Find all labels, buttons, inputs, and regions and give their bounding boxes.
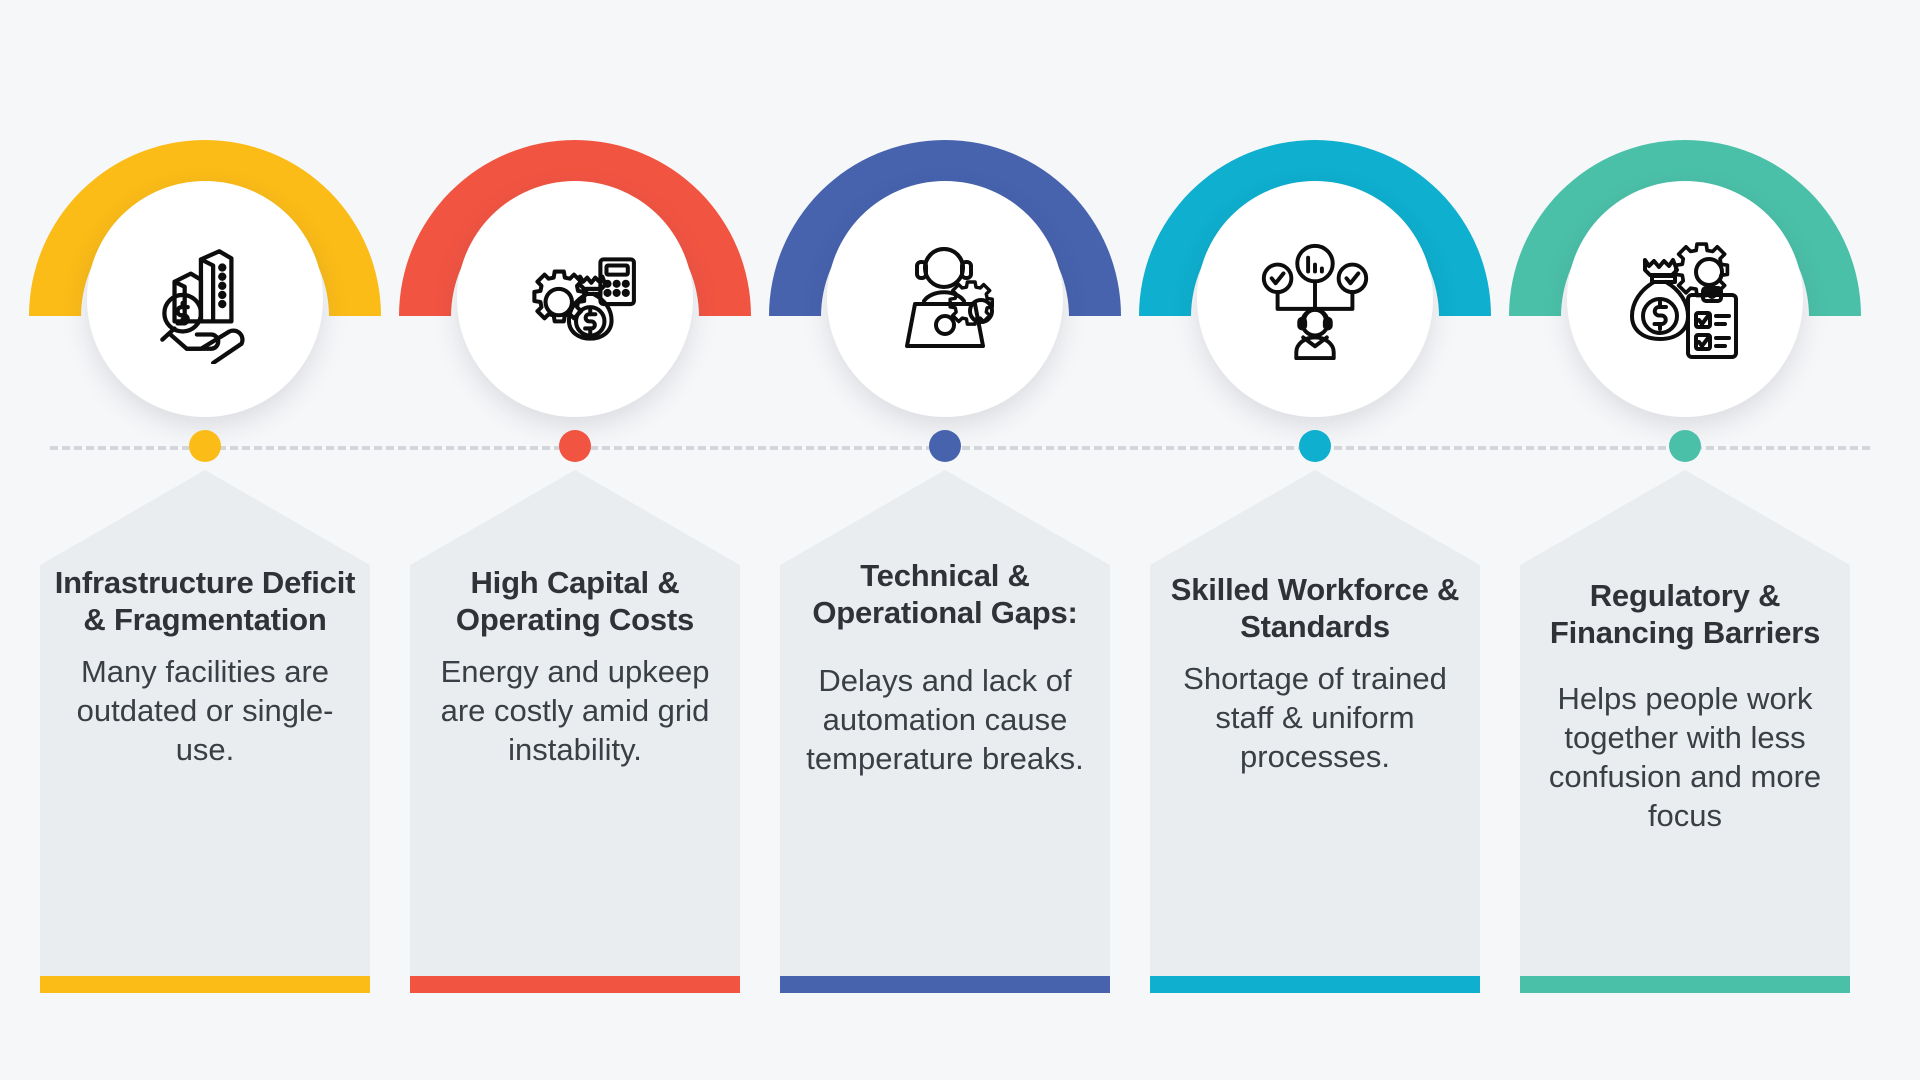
info-card-2: High Capital & Operating Costs Energy an…	[410, 470, 740, 990]
info-card-content-1: Infrastructure Deficit & Fragmentation M…	[40, 565, 370, 769]
accent-bar-4	[1150, 976, 1480, 993]
timeline-dot-1	[189, 430, 221, 462]
accent-bar-5	[1520, 976, 1850, 993]
timeline-dot-2	[559, 430, 591, 462]
card-description-2: Energy and upkeep are costly amid grid i…	[424, 652, 726, 769]
card-description-1: Many facilities are outdated or single-u…	[54, 652, 356, 769]
icon-circle-5	[1567, 181, 1803, 417]
person-org-chart-checkmarks-icon	[1252, 236, 1378, 362]
accent-bar-2	[410, 976, 740, 993]
card-title-5: Regulatory & Financing Barriers	[1534, 578, 1836, 651]
info-card-4: Skilled Workforce & Standards Shortage o…	[1150, 470, 1480, 990]
info-card-content-4: Skilled Workforce & Standards Shortage o…	[1150, 572, 1480, 776]
info-card-1: Infrastructure Deficit & Fragmentation M…	[40, 470, 370, 990]
support-agent-laptop-gear-icon	[881, 235, 1009, 363]
card-title-1: Infrastructure Deficit & Fragmentation	[54, 565, 356, 638]
info-card-content-2: High Capital & Operating Costs Energy an…	[410, 565, 740, 769]
accent-bar-1	[40, 976, 370, 993]
info-card-5: Regulatory & Financing Barriers Helps pe…	[1520, 470, 1850, 990]
card-title-4: Skilled Workforce & Standards	[1164, 572, 1466, 645]
info-card-content-3: Technical & Operational Gaps: Delays and…	[780, 558, 1110, 778]
infographic-column-4: Skilled Workforce & Standards Shortage o…	[1145, 0, 1485, 1080]
card-description-4: Shortage of trained staff & uniform proc…	[1164, 659, 1466, 776]
infographic-column-2: High Capital & Operating Costs Energy an…	[405, 0, 745, 1080]
icon-circle-4	[1197, 181, 1433, 417]
infographic-root: Infrastructure Deficit & Fragmentation M…	[0, 0, 1920, 1080]
card-title-3: Technical & Operational Gaps:	[794, 558, 1096, 631]
card-description-3: Delays and lack of automation cause temp…	[794, 661, 1096, 778]
infographic-column-1: Infrastructure Deficit & Fragmentation M…	[35, 0, 375, 1080]
info-card-3: Technical & Operational Gaps: Delays and…	[780, 470, 1110, 990]
timeline-dot-3	[929, 430, 961, 462]
icon-circle-3	[827, 181, 1063, 417]
card-title-2: High Capital & Operating Costs	[424, 565, 726, 638]
timeline-dot-5	[1669, 430, 1701, 462]
icon-circle-2	[457, 181, 693, 417]
accent-bar-3	[780, 976, 1110, 993]
info-card-content-5: Regulatory & Financing Barriers Helps pe…	[1520, 578, 1850, 835]
icon-circle-1	[87, 181, 323, 417]
building-money-in-hand-icon	[140, 234, 270, 364]
infographic-column-3: Technical & Operational Gaps: Delays and…	[775, 0, 1115, 1080]
money-bag-gear-checklist-icon	[1621, 235, 1749, 363]
infographic-column-5: Regulatory & Financing Barriers Helps pe…	[1515, 0, 1855, 1080]
gear-money-bag-calculator-icon	[510, 234, 640, 364]
card-description-5: Helps people work together with less con…	[1534, 679, 1836, 835]
timeline-dot-4	[1299, 430, 1331, 462]
